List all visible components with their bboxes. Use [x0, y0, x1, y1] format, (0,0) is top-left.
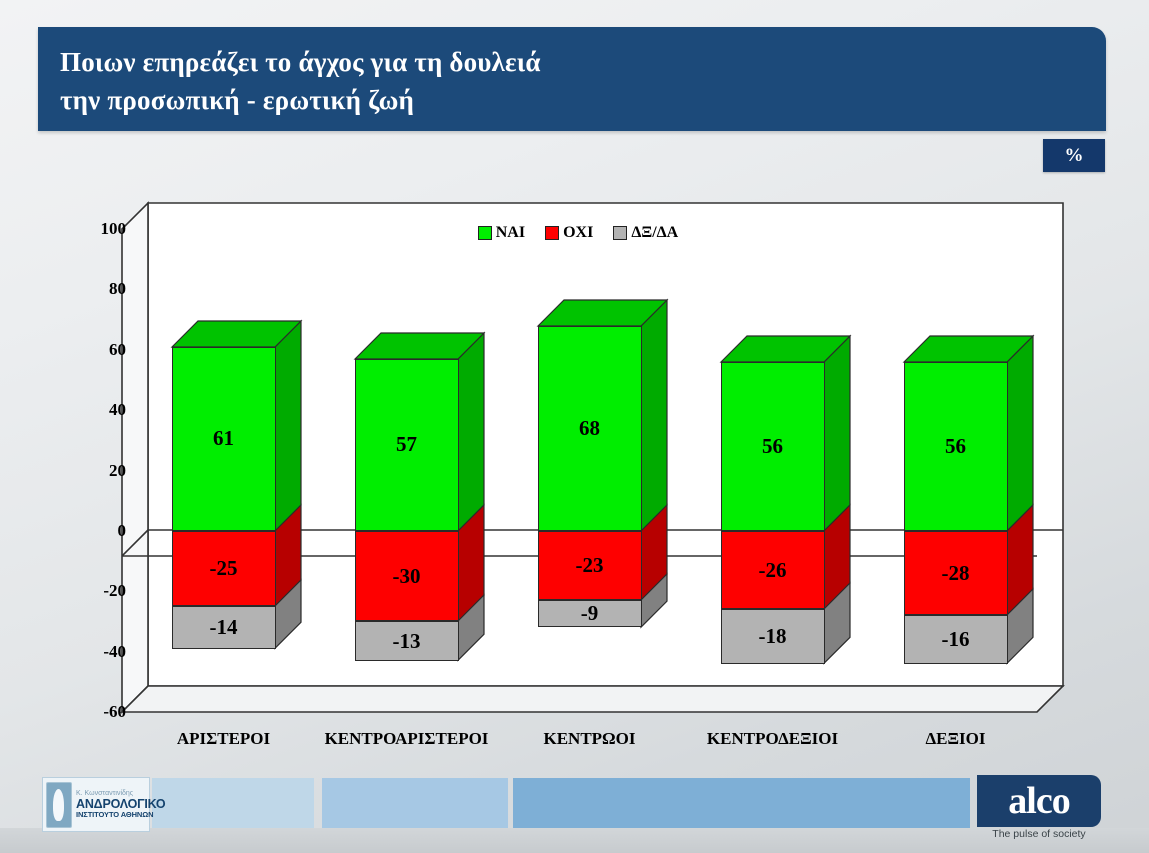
andrology-institute-logo: Κ. Κωνσταντινίδης ΑΝΔΡΟΛΟΓΙΚΟ ΙΝΣΤΙΤΟΥΤΟ…	[42, 777, 150, 832]
bar-group[interactable]: 56-28-16	[78, 196, 1078, 756]
institute-name: ΑΝΔΡΟΛΟΓΙΚΟ	[76, 798, 165, 811]
x-axis-label: ΔΕΞΙΟΙ	[826, 729, 1086, 749]
alco-tagline: The pulse of society	[977, 828, 1101, 840]
chart-container: 100806040200-20-40-60 ΝΑΙΟΧΙΔΞ/ΔΑ 61-25-…	[78, 196, 1078, 756]
slide-title-bar: Ποιων επηρεάζει το άγχος για τη δουλειά …	[38, 27, 1106, 131]
statue-icon	[46, 782, 72, 828]
alco-logo: alco	[977, 775, 1101, 827]
andrology-institute-text: Κ. Κωνσταντινίδης ΑΝΔΡΟΛΟΓΙΚΟ ΙΝΣΤΙΤΟΥΤΟ…	[76, 790, 165, 818]
page-title-line1: Ποιων επηρεάζει το άγχος για τη δουλειά	[60, 43, 1092, 81]
page-title: Ποιων επηρεάζει το άγχος για τη δουλειά …	[60, 43, 1092, 119]
bar-segment-label: -16	[904, 615, 1008, 663]
bar-segment-label: 56	[904, 362, 1008, 531]
bar-segment-ΔΞ/ΔΑ[interactable]: -16	[904, 615, 1008, 663]
bar-segment-side-face	[1007, 335, 1035, 532]
unit-badge: %	[1043, 139, 1105, 172]
bar-segment-ΟΧΙ[interactable]: -28	[904, 531, 1008, 616]
alco-wordmark: alco	[1008, 782, 1069, 820]
bar-segment-top-face	[904, 335, 1036, 363]
footer-accent-bar-1	[152, 778, 314, 828]
bar-segment-ΝΑΙ[interactable]: 56	[904, 362, 1008, 531]
footer-accent-bar-2	[322, 778, 508, 828]
page-title-line2: την προσωπική - ερωτική ζωή	[60, 81, 1092, 119]
bar-segment-side-face	[1007, 588, 1035, 664]
bar-segment-label: -28	[904, 531, 1008, 616]
footer-accent-bar-3	[513, 778, 970, 828]
footer: Κ. Κωνσταντινίδης ΑΝΔΡΟΛΟΓΙΚΟ ΙΝΣΤΙΤΟΥΤΟ…	[0, 778, 1149, 853]
institute-subtitle: ΙΝΣΤΙΤΟΥΤΟ ΑΘΗΝΩΝ	[76, 811, 165, 819]
